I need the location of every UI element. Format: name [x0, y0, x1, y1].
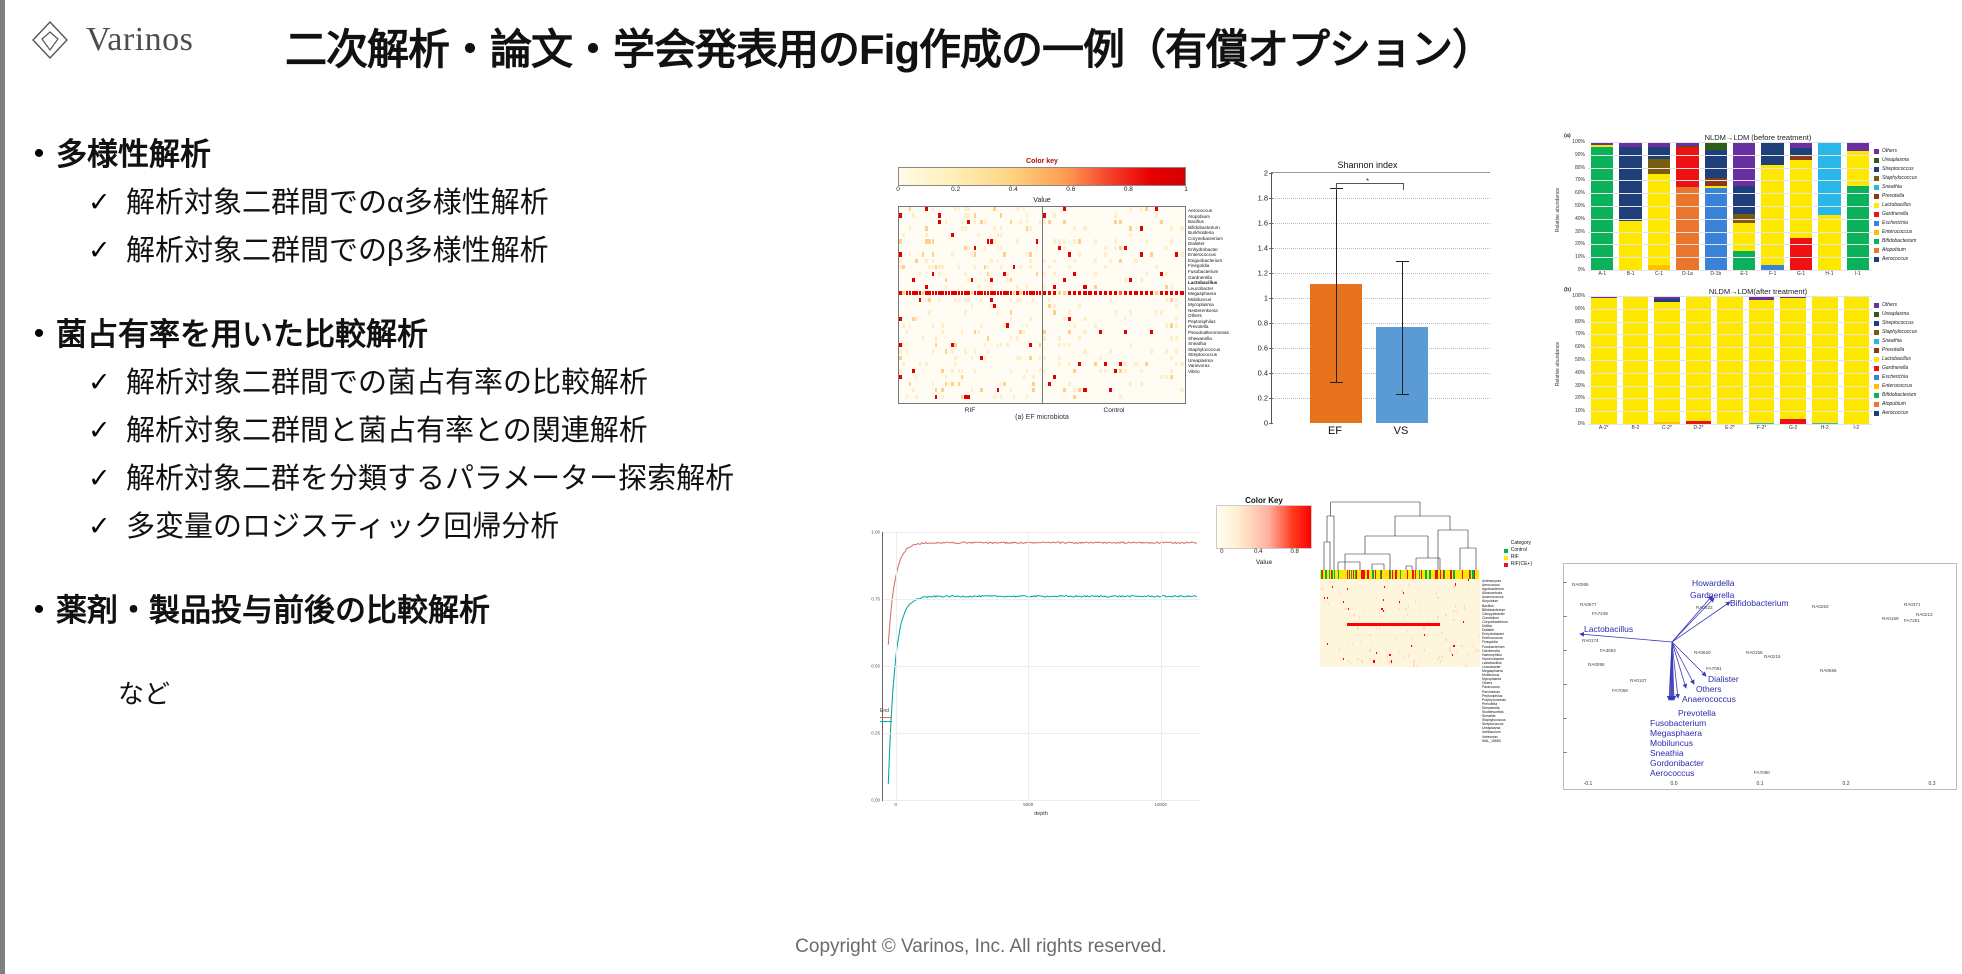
y-axis-tick-label: 0.4: [1258, 369, 1272, 378]
legend-item: Others: [1874, 147, 1954, 156]
heatmap-cell: [1456, 610, 1457, 612]
legend-item: Atopobium: [1874, 400, 1954, 409]
heatmap-cell: [1109, 259, 1112, 263]
figure-clustered-heatmap: Color Key 00.40.8 Value ActinomycesAeroc…: [1202, 492, 1532, 712]
legend-label: Sneathia: [1882, 183, 1902, 192]
legend-label: Lactobacillus: [1882, 355, 1911, 364]
biplot-sample-label: RA0577: [1580, 602, 1597, 607]
heatmap-cell: [1328, 603, 1329, 605]
heatmap-cell: [1468, 654, 1469, 656]
heatmap-cell: [1321, 588, 1322, 590]
heatmap-cell: [1094, 291, 1097, 295]
heatmap-cell: [906, 330, 909, 334]
heatmap-cell: [1104, 265, 1107, 269]
heatmap-cell: [899, 356, 902, 360]
heatmap-cell: [1000, 395, 1003, 399]
heatmap-cell: [1347, 641, 1348, 643]
grid-line: [1588, 180, 1872, 181]
check-icon: ✓: [88, 460, 126, 496]
heatmap-cell: [899, 252, 902, 256]
heatmap-cell: [932, 323, 935, 327]
heatmap-cell: [1140, 369, 1143, 373]
heatmap-cell: [1026, 226, 1029, 230]
panel-tag: (b): [1564, 287, 1571, 293]
y-axis-tick-label: 70%: [1575, 177, 1585, 183]
biplot-area: LactobacillusHowardellaGardnerellaBifido…: [1564, 564, 1956, 789]
heatmap-cell: [1104, 246, 1107, 250]
heatmap-cell: [945, 285, 948, 289]
error-bar: [1402, 261, 1403, 395]
heatmap-cell: [1129, 382, 1132, 386]
heatmap-cell: [1114, 369, 1117, 373]
heatmap-cell: [974, 349, 977, 353]
heatmap-cell: [1348, 660, 1349, 662]
heatmap-cell: [1405, 608, 1406, 610]
legend-label: Lactobacillus: [1882, 201, 1911, 210]
heatmap-cell: [1170, 239, 1173, 243]
heatmap-cell: [1129, 226, 1132, 230]
heatmap-cell: [987, 336, 990, 340]
heatmap-cell: [1165, 349, 1168, 353]
heatmap-cell: [1043, 369, 1046, 373]
legend-label: Prevotella: [1882, 192, 1904, 201]
heatmap-cell: [1029, 291, 1032, 295]
legend-item: Enterococcus: [1874, 382, 1954, 391]
heatmap-cell: [1170, 291, 1173, 295]
heatmap-cell: [1140, 207, 1143, 211]
legend-swatch: [1874, 312, 1879, 317]
heatmap-cell: [922, 336, 925, 340]
heatmap-cell: [1053, 259, 1056, 263]
heatmap-cell: [1000, 233, 1003, 237]
heatmap-cell: [1048, 298, 1051, 302]
chart-title: NLDM→LDM(after treatment): [1562, 287, 1954, 296]
heatmap-cell: [1109, 291, 1112, 295]
heatmap-cell: [1129, 310, 1132, 314]
biplot-vector-label: Mobiluncus: [1650, 738, 1693, 748]
heatmap-cell: [902, 233, 905, 237]
y-axis-tick-label: 0.50: [871, 664, 883, 669]
heatmap-cell: [1472, 645, 1473, 647]
legend-label: Ureaplasma: [1882, 156, 1909, 165]
heatmap-cell: [1026, 323, 1029, 327]
heatmap-cell: [980, 323, 983, 327]
heatmap-cell: [1019, 298, 1022, 302]
heatmap-cell: [977, 233, 980, 237]
biplot-vector-label: Fusobacterium: [1650, 718, 1706, 728]
heatmap-cell: [1053, 285, 1056, 289]
heatmap-cell: [1063, 291, 1066, 295]
heatmap-cell: [928, 291, 931, 295]
legend-label: RIF(CE+): [1511, 561, 1532, 568]
heatmap-cell: [1439, 623, 1440, 626]
heatmap-cell: [915, 259, 918, 263]
heatmap-cell: [1145, 362, 1148, 366]
heatmap-cell: [1323, 601, 1324, 603]
grid-line: [1588, 168, 1872, 169]
grid-line: [1161, 532, 1162, 800]
bullet-item: ✓ 解析対象二群間でのα多様性解析: [88, 184, 922, 222]
heatmap-cell: [1170, 298, 1173, 302]
heatmap-cell: [997, 259, 1000, 263]
etc-text: など: [118, 674, 922, 711]
heatmap-cell: [1043, 291, 1046, 295]
heatmap-cell: [1165, 272, 1168, 276]
legend-label: Sneathia: [1882, 337, 1902, 346]
heatmap-cell: [1053, 272, 1056, 276]
biplot-vector-label: Prevotella: [1678, 708, 1716, 718]
bar-segment: [1749, 300, 1775, 423]
heatmap-cell: [1343, 658, 1344, 660]
grid-line: [883, 733, 1201, 734]
y-axis-tick-label: 1.00: [871, 530, 883, 535]
heatmap-cell: [935, 291, 938, 295]
heatmap-cell: [1384, 663, 1385, 665]
heatmap-cell: [1391, 660, 1392, 662]
heatmap-cell: [951, 252, 954, 256]
heatmap-cell: [1026, 395, 1029, 399]
heatmap-cell: [1068, 310, 1071, 314]
heatmap-cell: [1048, 265, 1051, 269]
grid-line: [896, 532, 897, 800]
legend-swatch: [1874, 149, 1879, 154]
legend-label: Streptococcus: [1882, 319, 1914, 328]
heatmap-cell: [971, 356, 974, 360]
heatmap-cell: [958, 291, 961, 295]
heatmap-cell: [974, 252, 977, 256]
heatmap-cell: [1416, 665, 1417, 667]
check-icon: ✓: [88, 364, 126, 400]
heatmap-cell: [984, 343, 987, 347]
color-key-block: Color Key 00.40.8 Value: [1216, 496, 1312, 566]
stacked-bars: [1588, 142, 1872, 271]
heatmap-cell: [1043, 356, 1046, 360]
heatmap-cell: [945, 382, 948, 386]
heatmap-cell: [1140, 252, 1143, 256]
slide-root: Varinos 二次解析・論文・学会発表用のFig作成の一例（有償オプション） …: [0, 0, 1962, 974]
heatmap-cell: [1140, 278, 1143, 282]
heatmap-cell: [1078, 336, 1081, 340]
legend-item: Aerococcus: [1874, 255, 1954, 264]
heatmap-cell: [932, 252, 935, 256]
heatmap-cell: [938, 298, 941, 302]
heatmap-cell: [1412, 645, 1413, 647]
heatmap-cell: [1083, 317, 1086, 321]
heatmap-cell: [1083, 349, 1086, 353]
legend-swatch: [1874, 402, 1879, 407]
heatmap-cell: [1026, 285, 1029, 289]
bullet-item-text: 解析対象二群間でのα多様性解析: [126, 184, 549, 222]
heatmap-cell: [1114, 246, 1117, 250]
heatmap-cell: [1043, 272, 1046, 276]
heatmap-cell: [1160, 375, 1163, 379]
x-axis-tick-label: H-1: [1818, 271, 1840, 277]
colorkey-axis-label: Value: [1216, 559, 1312, 566]
heatmap-cell: [1000, 226, 1003, 230]
heatmap-cell: [1404, 656, 1405, 658]
heatmap-cell: [967, 298, 970, 302]
heatmap-cell: [935, 265, 938, 269]
grid-line: [1272, 198, 1490, 199]
heatmap-cell: [964, 207, 967, 211]
bar-segment: [1619, 221, 1641, 270]
heatmap-cell: [1016, 356, 1019, 360]
heatmap-cell: [967, 291, 970, 295]
legend-item: Bifidobacterium: [1874, 237, 1954, 246]
x-axis-label: depth: [882, 811, 1200, 817]
grid-line: [1588, 360, 1872, 361]
heatmap-cell: [1439, 656, 1440, 658]
heatmap-cell: [1043, 330, 1046, 334]
heatmap-grid: AerococcusAtopobiumBacillusBifidobacteri…: [898, 206, 1186, 404]
heatmap-cell: [971, 388, 974, 392]
y-axis-tick-label: 10%: [1575, 408, 1585, 414]
heatmap-cell: [964, 272, 967, 276]
heatmap-cell: [1437, 616, 1438, 618]
heatmap-cell: [980, 291, 983, 295]
biplot-sample-label: RA0065: [1572, 582, 1589, 587]
grid-line: [1272, 323, 1490, 324]
bar-segment: [1591, 147, 1613, 270]
legend-label: Staphylococcus: [1882, 328, 1917, 337]
biplot-sample-label: FA7251: [1904, 618, 1920, 623]
figure-ef-microbiota-heatmap: Color key 00.20.40.60.81 Value Aerococcu…: [898, 158, 1186, 474]
legend-label: Others: [1882, 147, 1897, 156]
y-axis-tick-label: 40%: [1575, 216, 1585, 222]
heatmap-cell: [1140, 382, 1143, 386]
bullet-dot-icon: •: [22, 592, 56, 628]
heatmap-cell: [909, 207, 912, 211]
heatmap-cell: [1010, 310, 1013, 314]
grid-line: [1588, 398, 1872, 399]
significance-marker: *: [1366, 177, 1369, 186]
heatmap-cell: [1000, 382, 1003, 386]
heatmap-cell: [1420, 601, 1421, 603]
heatmap-cell: [1175, 317, 1178, 321]
heatmap-cell: [1043, 336, 1046, 340]
heatmap-cell: [1000, 213, 1003, 217]
heatmap-cell: [1453, 619, 1454, 621]
biplot-sample-label: RA0158: [1746, 650, 1763, 655]
dendrogram: [1320, 496, 1480, 570]
heatmap-cell: [971, 278, 974, 282]
legend-swatch: [1874, 212, 1879, 217]
heatmap-cell: [1078, 291, 1081, 295]
x-axis-tick-label: 0.1: [1757, 781, 1764, 787]
y-axis-tick-label: 70%: [1575, 331, 1585, 337]
legend-label: Prevotella: [1882, 346, 1904, 355]
heatmap-cell: [935, 343, 938, 347]
legend-item: Aerococcus: [1874, 409, 1954, 418]
heatmap-cell: [1003, 291, 1006, 295]
heatmap-cell: [1063, 207, 1066, 211]
heatmap-cell: [1109, 298, 1112, 302]
y-axis-tick-label: 50%: [1575, 357, 1585, 363]
heatmap-cell: [1387, 581, 1388, 583]
heatmap-cell: [951, 382, 954, 386]
heatmap-cell: [1003, 323, 1006, 327]
y-axis-tick-label: 100%: [1572, 293, 1585, 299]
heatmap-cell: [945, 220, 948, 224]
y-axis-tick-label: 1.6: [1258, 219, 1272, 228]
heatmap-cell: [899, 317, 902, 321]
legend-item: Category: [1504, 540, 1532, 547]
heatmap-cell: [951, 233, 954, 237]
heatmap-cell: [1029, 317, 1032, 321]
heatmap-cell: [1104, 252, 1107, 256]
heatmap-cell: [1369, 658, 1370, 660]
heatmap-cell: [1058, 356, 1061, 360]
legend-swatch: [1504, 563, 1508, 567]
heatmap-cell: [1129, 207, 1132, 211]
heatmap-cell: [1114, 239, 1117, 243]
bullet-item: ✓ 解析対象二群間での菌占有率の比較解析: [88, 364, 922, 402]
colorkey-tick: 0.8: [1124, 186, 1133, 193]
bar-segment: [1790, 160, 1812, 238]
heatmap-cell: [945, 278, 948, 282]
heatmap-row-label: WAL_1855D: [1482, 739, 1528, 743]
heatmap-cell: [1019, 356, 1022, 360]
x-axis-label-vs: VS: [1394, 425, 1409, 437]
heatmap-cell: [1329, 581, 1330, 583]
heatmap-cell: [971, 291, 974, 295]
legend-swatch: [1504, 549, 1508, 553]
biplot-sample-label: FA7249: [1592, 611, 1608, 616]
heatmap-cell: [945, 375, 948, 379]
heatmap-cell: [958, 207, 961, 211]
heatmap-cell: [1170, 285, 1173, 289]
heatmap-cell: [1360, 641, 1361, 643]
heatmap-cell: [909, 291, 912, 295]
colorkey-tick: 0: [896, 186, 900, 193]
heatmap-cell: [1441, 656, 1442, 658]
heatmap-cell: [928, 310, 931, 314]
biplot-vector-label: Anaerococcus: [1682, 694, 1736, 704]
legend-swatch: [1874, 366, 1879, 371]
heatmap-cell: [1155, 265, 1158, 269]
bullet-item: ✓ 解析対象二群間と菌占有率との関連解析: [88, 412, 922, 450]
heatmap-cell: [925, 239, 928, 243]
heatmap-cell: [1479, 636, 1480, 638]
section-spacer: [22, 546, 922, 586]
biplot-sample-label: FA7080: [1754, 770, 1770, 775]
heatmap-cell: [1408, 605, 1409, 607]
heatmap-cell: [938, 291, 941, 295]
heatmap-cell: [1413, 665, 1414, 667]
colorkey-title: Color Key: [1216, 496, 1312, 505]
group-label-control: Control: [1042, 407, 1186, 414]
footer-copyright: Copyright © Varinos, Inc. All rights res…: [0, 936, 1962, 958]
x-axis-tick-label: I-1: [1847, 271, 1869, 277]
colorkey-tick: 0.8: [1291, 549, 1299, 555]
y-axis-tick-label: 0%: [1578, 421, 1585, 427]
heatmap-cell: [1026, 252, 1029, 256]
heatmap-cell: [1109, 349, 1112, 353]
heatmap-cell: [964, 226, 967, 230]
heatmap-cell: [932, 259, 935, 263]
heatmap-cell: [1058, 246, 1061, 250]
heatmap-cell: [958, 298, 961, 302]
heatmap-cell: [1150, 349, 1153, 353]
legend-item: Others: [1874, 301, 1954, 310]
heatmap-cell: [932, 349, 935, 353]
heatmap-cell: [1453, 586, 1454, 588]
heatmap-cell: [987, 285, 990, 289]
heatmap-cell: [1083, 291, 1086, 295]
heatmap-cell: [964, 298, 967, 302]
heatmap-cell: [1175, 362, 1178, 366]
heatmap-cell: [1016, 285, 1019, 289]
heatmap-cell: [1003, 382, 1006, 386]
grid-line: [1588, 373, 1872, 374]
check-icon: ✓: [88, 232, 126, 268]
heatmap-cell: [1006, 272, 1009, 276]
heatmap-cell: [967, 395, 970, 399]
heatmap-cell: [1129, 278, 1132, 282]
heatmap-cell: [977, 285, 980, 289]
heatmap-cell: [932, 239, 935, 243]
heatmap-cell: [951, 369, 954, 373]
heatmap-cell: [1351, 663, 1352, 665]
heatmap-cell: [1058, 343, 1061, 347]
heatmap-cell: [1003, 272, 1006, 276]
heatmap-cell: [909, 226, 912, 230]
bar-segment: [1733, 186, 1755, 214]
biplot-vector-label: Sneathia: [1650, 748, 1684, 758]
heatmap-cell: [1389, 654, 1390, 656]
heatmap-cell: [1083, 226, 1086, 230]
heatmap-cell: [1140, 291, 1143, 295]
heatmap-cell: [912, 291, 915, 295]
heatmap-cell: [1019, 220, 1022, 224]
legend-label: Enterococcus: [1882, 228, 1912, 237]
heatmap-cell: [1013, 265, 1016, 269]
line-series-2: [888, 596, 1196, 784]
heatmap-cell: [1324, 597, 1325, 599]
heatmap-cell: [1053, 310, 1056, 314]
heatmap-cell: [993, 239, 996, 243]
heatmap-cell: [974, 220, 977, 224]
heatmap-cell: [1170, 375, 1173, 379]
legend-item: Gardnerella: [1874, 364, 1954, 373]
heatmap-cell: [1468, 579, 1469, 581]
bar-segment: [1818, 215, 1840, 270]
heatmap-cell: [1043, 220, 1046, 224]
legend-item: Gardnerella: [1874, 210, 1954, 219]
bullet-item-text: 解析対象二群間での菌占有率の比較解析: [126, 364, 648, 402]
heatmap-cell: [1029, 259, 1032, 263]
colorkey-tick: 0: [1220, 549, 1223, 555]
heatmap-cell: [1029, 252, 1032, 256]
heatmap-cell: [1155, 207, 1158, 211]
section-heading-text: 多様性解析: [56, 136, 211, 174]
heatmap-cell: [1170, 356, 1173, 360]
heatmap-cell: [954, 207, 957, 211]
heatmap-cell: [1399, 652, 1400, 654]
heatmap-cell: [1099, 291, 1102, 295]
bullet-list: • 多様性解析 ✓ 解析対象二群間でのα多様性解析 ✓ 解析対象二群間でのβ多様…: [22, 130, 922, 711]
heatmap-cell: [938, 220, 941, 224]
heatmap-cell: [993, 226, 996, 230]
heatmap-cell: [1078, 252, 1081, 256]
heatmap-cell: [1453, 610, 1454, 612]
heatmap-cell: [1068, 382, 1071, 386]
heatmap-cell: [1000, 265, 1003, 269]
heatmap-cell: [1383, 599, 1384, 601]
y-axis-tick-label: 20%: [1575, 395, 1585, 401]
heatmap-cell: [915, 395, 918, 399]
heatmap-cell: [1160, 220, 1163, 224]
